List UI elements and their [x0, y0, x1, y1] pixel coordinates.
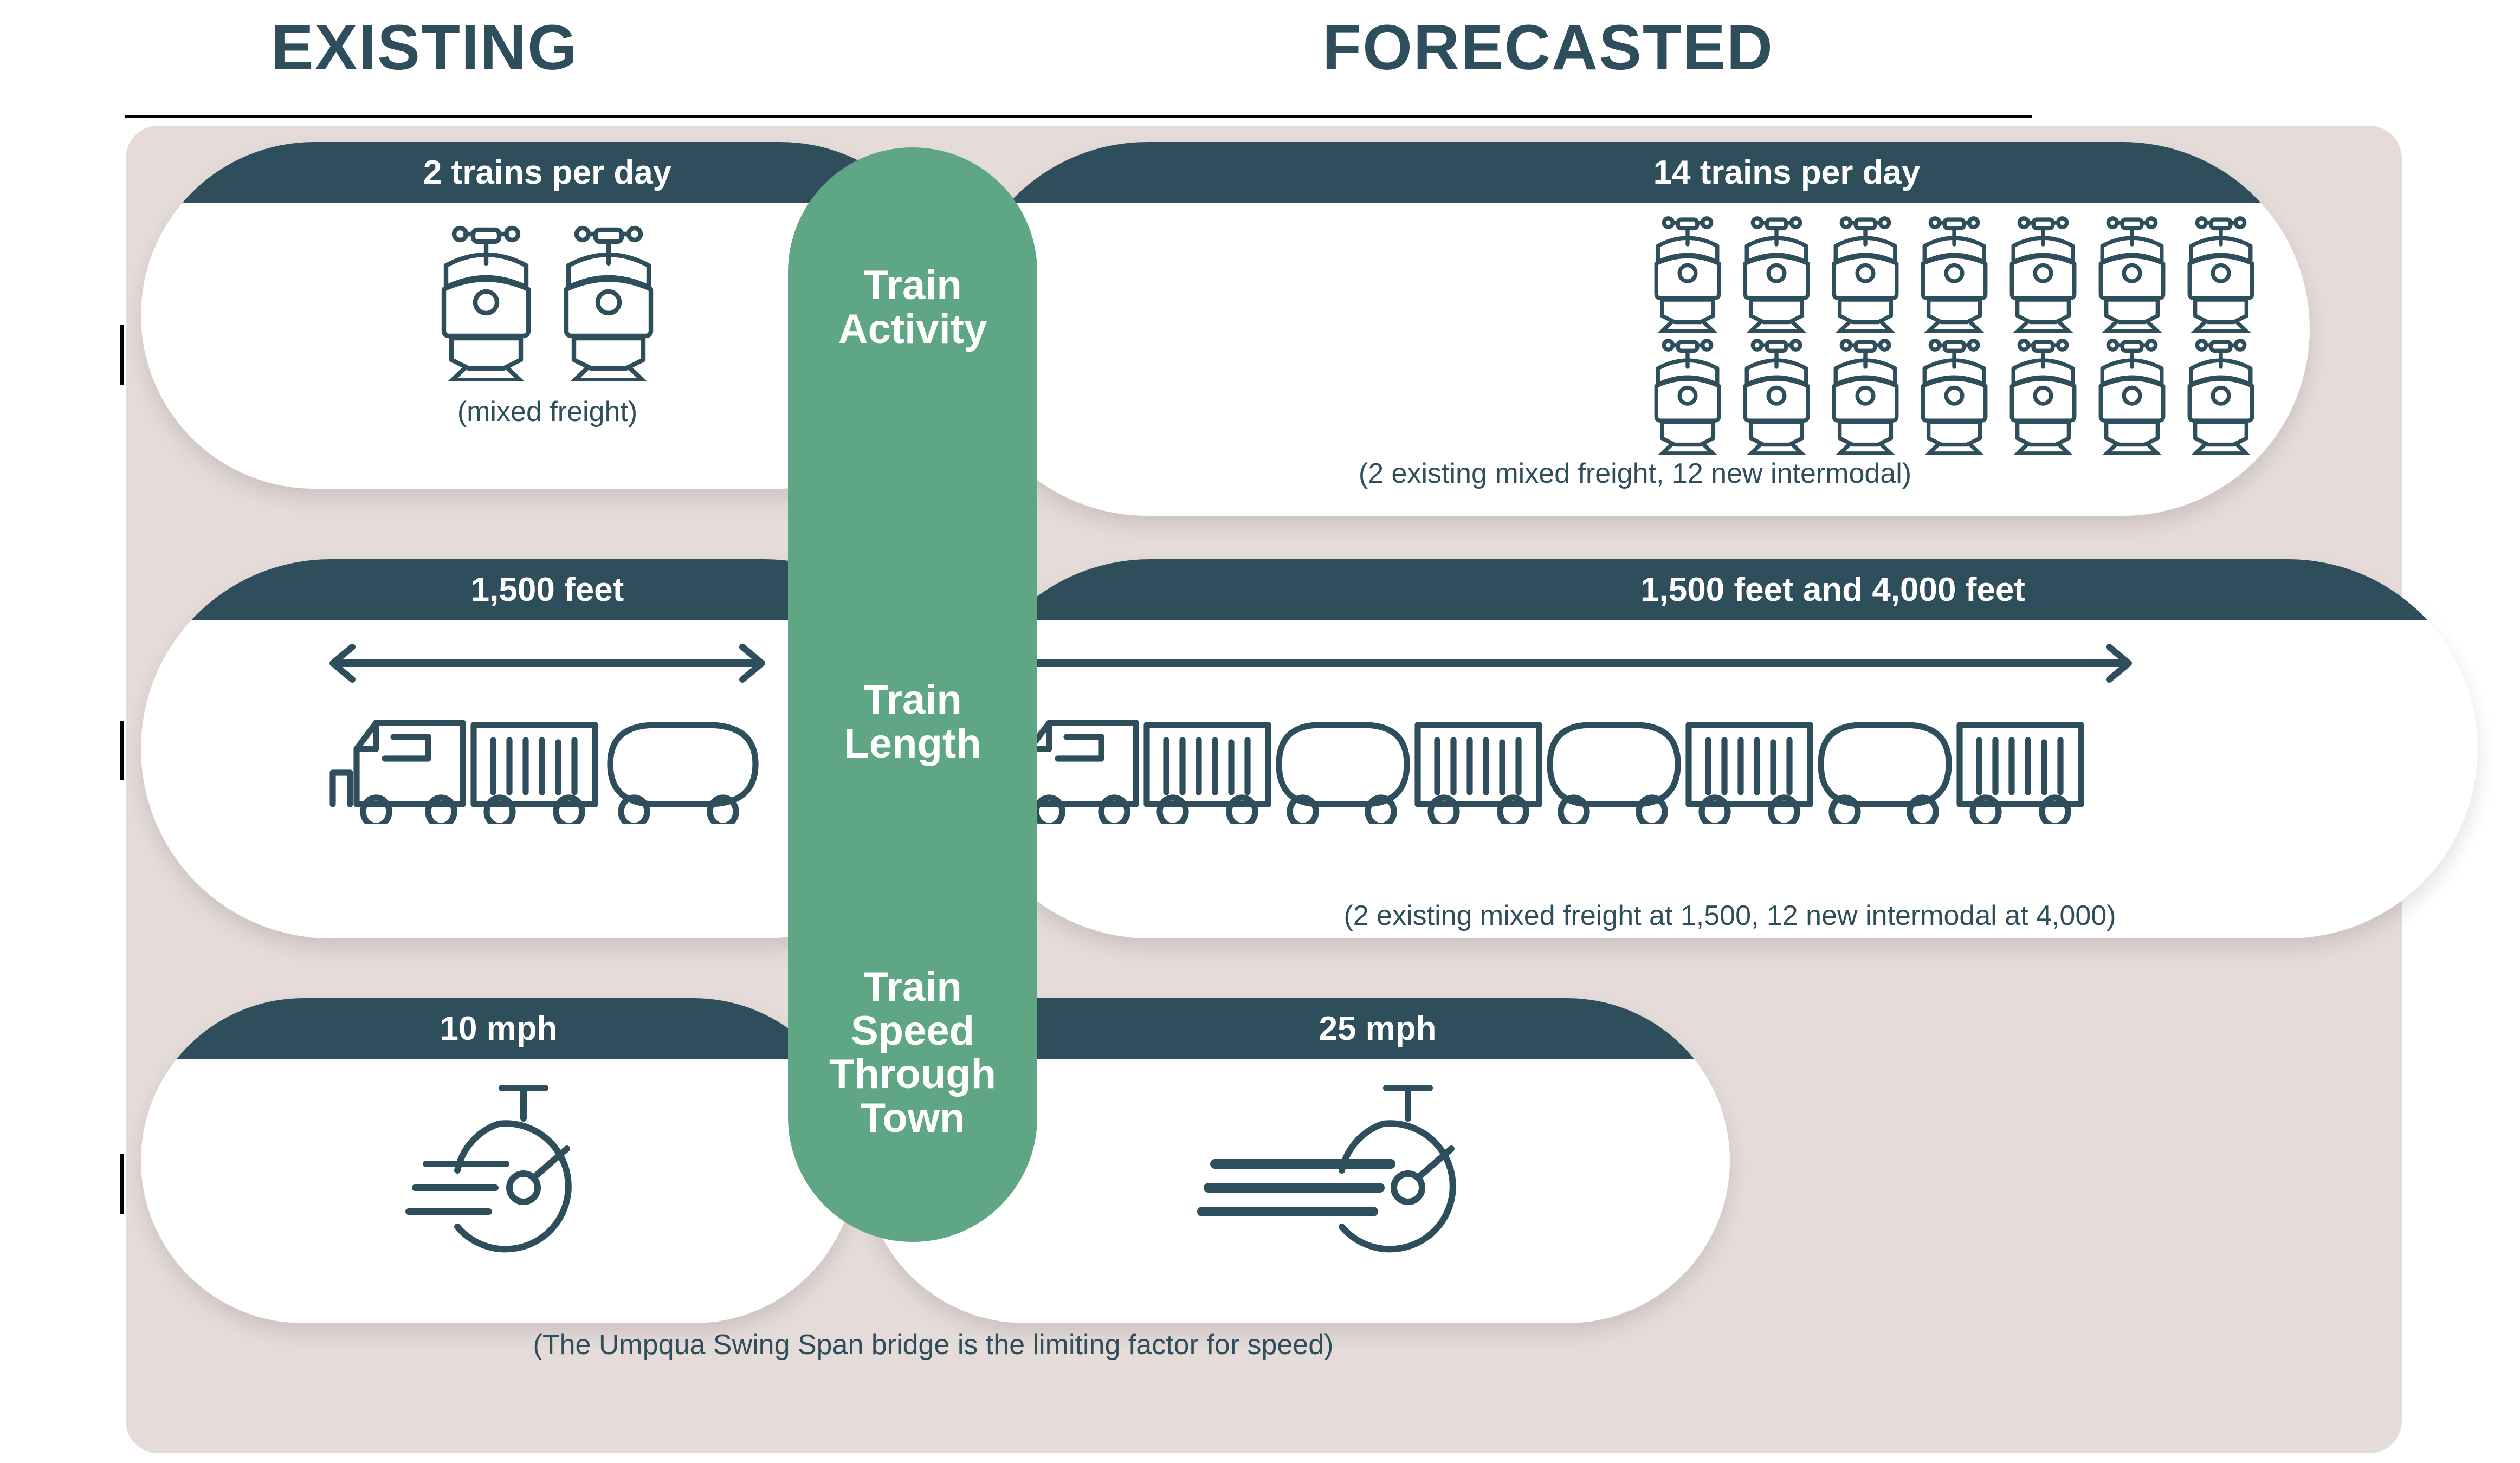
band-label-length-existing: 1,500 feet [471, 571, 624, 609]
train-side-profile-icon [309, 699, 786, 824]
locomotive-front-icon [2092, 215, 2172, 333]
heading-existing: EXISTING [271, 11, 578, 85]
length-arrow-icon [982, 642, 2153, 685]
locomotive-grid-row [1647, 337, 2261, 455]
locomotive-group-existing [432, 224, 663, 381]
heading-forecasted: FORECASTED [1322, 11, 1774, 85]
stopwatch-speed-icon [1193, 1073, 1497, 1290]
locomotive-front-icon [2003, 337, 2083, 455]
locomotive-grid-row [1647, 215, 2261, 333]
infographic-panel: 2 trains per day [126, 126, 2402, 1453]
locomotive-front-icon [554, 224, 663, 381]
headings-row: EXISTING FORECASTED [0, 0, 2520, 125]
locomotive-front-icon [1914, 215, 1994, 333]
locomotive-front-icon [1825, 337, 1905, 455]
body-speed-existing [141, 1059, 856, 1323]
locomotive-front-icon [432, 224, 540, 381]
stopwatch-speed-icon [385, 1073, 612, 1290]
card-speed-existing: 10 mph [141, 998, 856, 1323]
locomotive-front-icon [2181, 215, 2261, 333]
caption-activity-forecasted: (2 existing mixed freight, 12 new interm… [971, 457, 2299, 490]
band-label-length-forecasted: 1,500 feet and 4,000 feet [1413, 571, 2025, 609]
band-speed-existing: 10 mph [141, 998, 856, 1059]
locomotive-front-icon [1736, 215, 1817, 333]
trim-rule [125, 115, 2032, 118]
metric-label-train-length: Train Length [788, 678, 1037, 766]
locomotive-front-icon [1647, 337, 1728, 455]
row-train-length: 1,500 feet [126, 559, 2402, 966]
band-label-speed-forecasted: 25 mph [1156, 1009, 1436, 1048]
locomotive-grid-forecasted [1647, 215, 2261, 455]
locomotive-front-icon [1914, 337, 1994, 455]
band-label-activity-existing: 2 trains per day [423, 153, 671, 192]
metric-label-train-speed: Train Speed Through Town [788, 966, 1037, 1140]
metric-label-train-activity: Train Activity [788, 264, 1037, 351]
band-label-activity-forecasted: 14 trains per day [1350, 153, 1921, 192]
row-train-activity: 2 trains per day [126, 142, 2402, 527]
caption-activity-existing: (mixed freight) [457, 396, 637, 428]
band-activity-forecasted: 14 trains per day [960, 142, 2310, 203]
locomotive-front-icon [1825, 215, 1905, 333]
trim-tick-row-1 [120, 325, 124, 385]
locomotive-front-icon [1736, 337, 1817, 455]
metric-spine-pill: Train Activity Train Length Train Speed … [788, 147, 1037, 1242]
locomotive-front-icon [2003, 215, 2083, 333]
row-train-speed: 10 mph [126, 998, 2402, 1432]
band-label-speed-existing: 10 mph [440, 1009, 557, 1048]
locomotive-front-icon [2181, 337, 2261, 455]
locomotive-front-icon [2092, 337, 2172, 455]
body-length-forecasted [960, 620, 2478, 938]
locomotive-front-icon [1647, 215, 1728, 333]
card-length-forecasted: 1,500 feet and 4,000 feet [960, 559, 2478, 938]
trim-tick-row-3 [120, 1154, 124, 1214]
train-side-profile-icon [982, 699, 2158, 824]
caption-speed-existing: (The Umpqua Swing Span bridge is the lim… [147, 1329, 1719, 1361]
band-length-forecasted: 1,500 feet and 4,000 feet [960, 559, 2478, 620]
length-arrow-icon [309, 642, 786, 685]
caption-length-forecasted: (2 existing mixed freight at 1,500, 12 n… [971, 899, 2489, 932]
trim-tick-row-2 [120, 721, 124, 780]
